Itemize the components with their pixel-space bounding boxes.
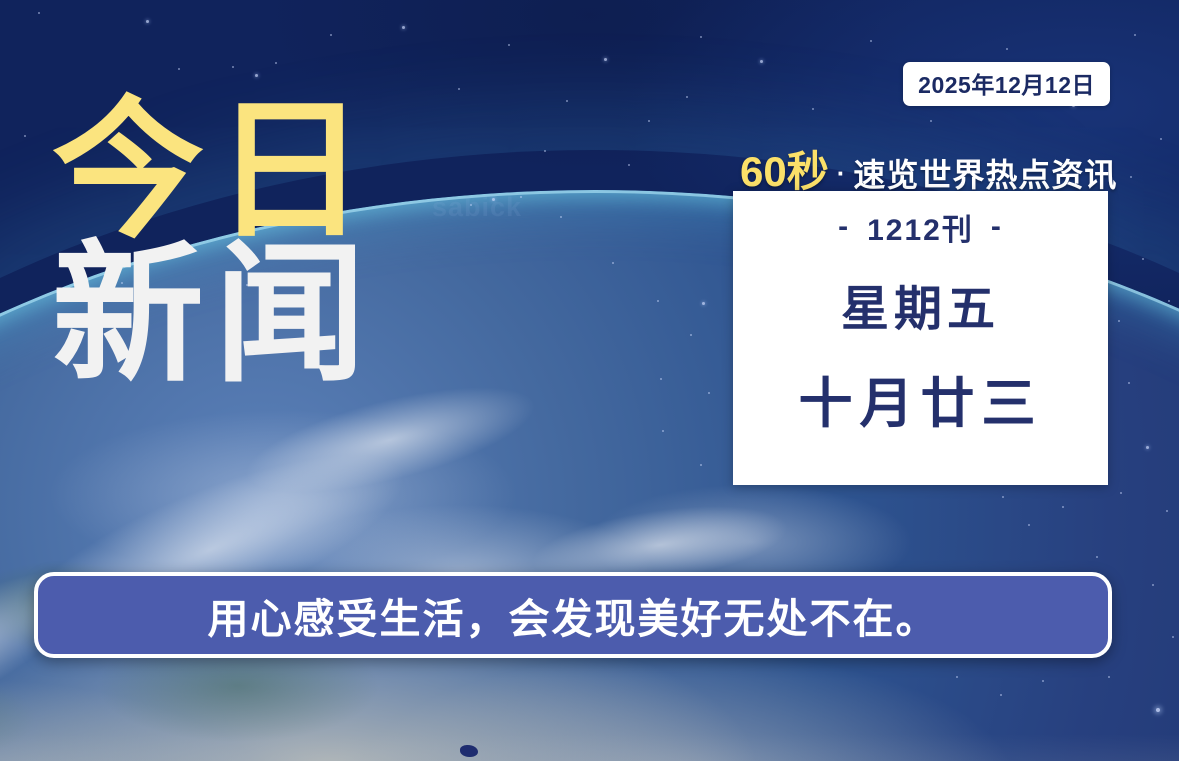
quote-banner: 用心感受生活，会发现美好无处不在。 — [34, 572, 1112, 658]
quote-text: 用心感受生活，会发现美好无处不在。 — [208, 585, 939, 645]
date-badge: 2025年12月12日 — [903, 62, 1110, 106]
issue-number: 1212刊 — [867, 205, 974, 249]
issue-row: - 1212刊 - — [838, 205, 1003, 249]
poster-canvas: sabick 今日 新闻 2025年12月12日 60秒 · 速览世界热点资讯 … — [0, 0, 1179, 761]
weekday-label: 星期五 — [841, 269, 1000, 339]
issue-dash-left: - — [838, 210, 850, 244]
poster-title: 今日 新闻 — [52, 96, 482, 391]
page-title-line2: 新闻 — [52, 240, 482, 390]
tagline-text: 速览世界热点资讯 — [853, 150, 1117, 196]
lunar-date-label: 十月廿三 — [799, 359, 1043, 438]
tagline: 60秒 · 速览世界热点资讯 — [740, 138, 1117, 199]
tagline-separator: · — [835, 158, 848, 189]
tagline-seconds: 60秒 — [740, 138, 829, 199]
page-title-line1: 今日 — [52, 96, 482, 246]
issue-card: - 1212刊 - 星期五 十月廿三 — [733, 191, 1108, 485]
issue-dash-right: - — [991, 210, 1003, 244]
